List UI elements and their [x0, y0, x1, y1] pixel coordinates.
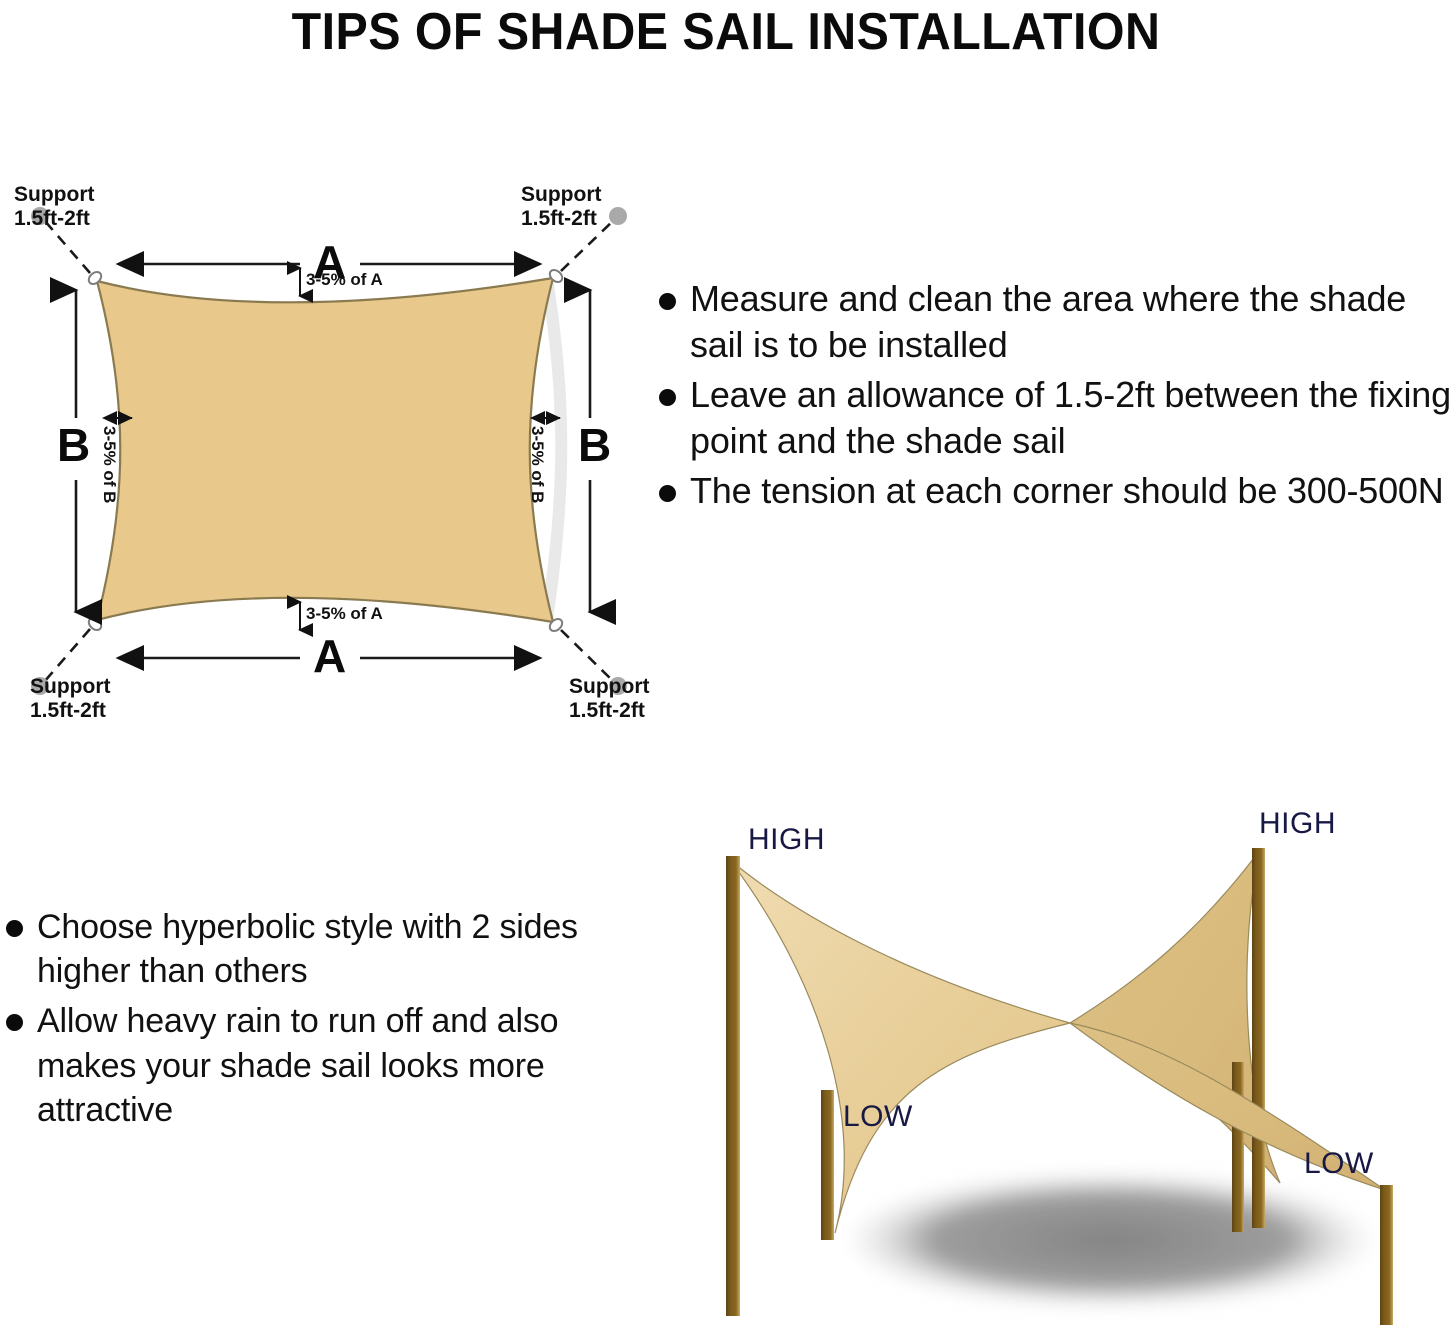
sail-fabric: [97, 278, 553, 622]
curve-label-left: 3-5% of B: [99, 426, 119, 503]
bullet-dot-icon: [659, 485, 676, 502]
support-top-left: Support 1.5ft-2ft: [14, 183, 94, 230]
curve-label-right: 3-5% of B: [527, 426, 547, 503]
support-top-left-line2: 1.5ft-2ft: [14, 207, 90, 230]
bullet-dot-icon: [6, 920, 23, 937]
support-dot-top-right: [609, 207, 627, 225]
pole-high-left: [726, 856, 740, 1316]
list-item: The tension at each corner should be 300…: [659, 468, 1452, 514]
list-item: Allow heavy rain to run off and also mak…: [6, 999, 631, 1132]
pole-low-middle-right: [1232, 1062, 1244, 1232]
label-low-left: LOW: [843, 1100, 913, 1134]
pole-low-right: [1380, 1185, 1393, 1325]
support-bottom-left-line1: Support: [30, 675, 110, 698]
sail-panel-left-front: [730, 860, 1070, 1233]
support-top-left-line1: Support: [14, 183, 94, 206]
support-bottom-left: Support 1.5ft-2ft: [30, 675, 110, 722]
support-bottom-right-line1: Support: [569, 675, 649, 698]
list-item: Measure and clean the area where the sha…: [659, 276, 1452, 368]
support-top-right-line1: Support: [521, 183, 601, 206]
page-title: TIPS OF SHADE SAIL INSTALLATION: [51, 2, 1401, 62]
bullet-dot-icon: [659, 389, 676, 406]
list-item: Leave an allowance of 1.5-2ft between th…: [659, 372, 1452, 464]
list-item: Choose hyperbolic style with 2 sides hig…: [6, 905, 631, 993]
tip-text: Measure and clean the area where the sha…: [690, 276, 1452, 368]
support-bottom-right-line2: 1.5ft-2ft: [569, 699, 645, 722]
bullet-dot-icon: [6, 1014, 23, 1031]
tips-list-left: Choose hyperbolic style with 2 sides hig…: [6, 905, 631, 1138]
pole-high-right: [1252, 848, 1265, 1228]
tip-text: Leave an allowance of 1.5-2ft between th…: [690, 372, 1452, 464]
dim-label-left-B: B: [57, 422, 90, 468]
hyperbolic-sail-svg: [640, 790, 1452, 1325]
support-bottom-left-line2: 1.5ft-2ft: [30, 699, 106, 722]
curve-label-bottom: 3-5% of A: [306, 604, 383, 624]
support-bottom-right: Support 1.5ft-2ft: [569, 675, 649, 722]
hyperbolic-sail-diagram: HIGH HIGH LOW LOW: [640, 790, 1452, 1325]
tip-text: Choose hyperbolic style with 2 sides hig…: [37, 905, 631, 993]
tips-list-right: Measure and clean the area where the sha…: [659, 276, 1452, 518]
support-top-right-line2: 1.5ft-2ft: [521, 207, 597, 230]
bullet-dot-icon: [659, 293, 676, 310]
tip-text: The tension at each corner should be 300…: [690, 468, 1444, 514]
ground-shadow: [850, 1174, 1370, 1306]
rect-sail-diagram: Support 1.5ft-2ft Support 1.5ft-2ft Supp…: [0, 150, 660, 750]
tip-text: Allow heavy rain to run off and also mak…: [37, 999, 631, 1132]
label-high-left: HIGH: [748, 823, 825, 857]
dim-label-bottom-A: A: [313, 633, 346, 679]
dim-label-right-B: B: [578, 422, 611, 468]
label-high-right: HIGH: [1259, 807, 1336, 841]
pole-low-left: [821, 1090, 834, 1240]
curve-label-top: 3-5% of A: [306, 270, 383, 290]
label-low-right: LOW: [1304, 1147, 1374, 1181]
support-top-right: Support 1.5ft-2ft: [521, 183, 601, 230]
